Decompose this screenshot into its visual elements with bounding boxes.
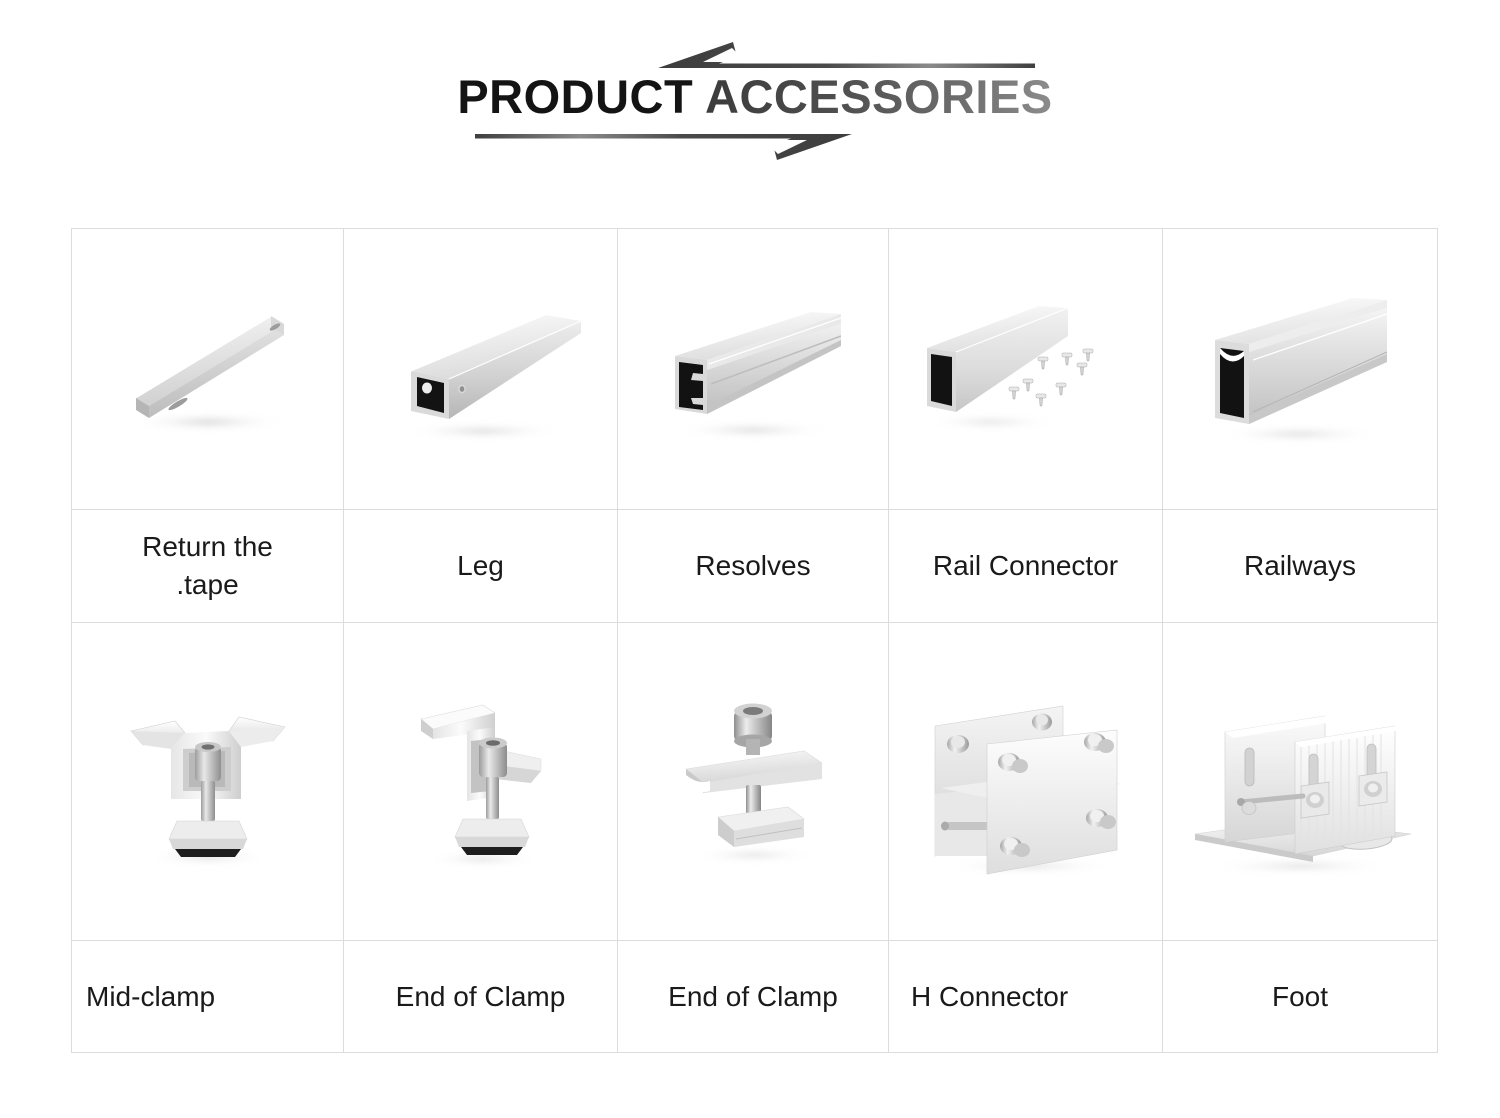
product-image-cell-foot — [1163, 623, 1437, 941]
product-label-cell-foot: Foot — [1163, 941, 1437, 1052]
product-image-cell-railways — [1163, 229, 1437, 510]
product-label-end-of-clamp-2: End of Clamp — [668, 978, 838, 1016]
product-image-cell-resolves — [618, 229, 889, 510]
square-tube-leg-image — [373, 289, 588, 449]
end-clamp-c-image — [656, 689, 851, 874]
page-title: PRODUCT ACCESSORIES — [455, 68, 1055, 126]
product-image-cell-rail-connector — [889, 229, 1163, 510]
product-image-cell-leg — [344, 229, 618, 510]
product-label-foot: Foot — [1272, 978, 1328, 1016]
page-title-part-2: ACCESSORIES — [693, 70, 1052, 123]
channel-rail-image — [651, 294, 856, 444]
h-connector-image — [911, 684, 1141, 879]
foot-bracket-image — [1183, 684, 1418, 879]
mid-clamp-image — [113, 687, 303, 877]
product-label-cell-h-connector: H Connector — [889, 941, 1163, 1052]
product-label-cell-rail-connector: Rail Connector — [889, 510, 1163, 623]
product-label-cell-mid-clamp: Mid-clamp — [72, 941, 344, 1052]
product-label-cell-return-the-tape: Return the.tape — [72, 510, 344, 623]
rail-connector-with-screws-image — [911, 294, 1141, 444]
header-inner: PRODUCT ACCESSORIES — [455, 30, 1055, 180]
product-label-cell-leg: Leg — [344, 510, 618, 623]
product-image-cell-end-of-clamp-1 — [344, 623, 618, 941]
product-label-cell-resolves: Resolves — [618, 510, 889, 623]
product-label-cell-end-of-clamp-2: End of Clamp — [618, 941, 889, 1052]
product-label-cell-end-of-clamp-1: End of Clamp — [344, 941, 618, 1052]
product-image-cell-end-of-clamp-2 — [618, 623, 889, 941]
triangle-flourish-bottom-icon — [475, 128, 895, 166]
product-label-cell-railways: Railways — [1163, 510, 1437, 623]
product-label-railways: Railways — [1244, 547, 1356, 585]
product-image-cell-mid-clamp — [72, 623, 344, 941]
product-label-rail-connector: Rail Connector — [933, 547, 1118, 585]
product-image-cell-return-the-tape — [72, 229, 344, 510]
product-image-cell-h-connector — [889, 623, 1163, 941]
product-label-h-connector: H Connector — [911, 978, 1068, 1016]
angle-bracket-rail-image — [103, 294, 313, 444]
page-header: PRODUCT ACCESSORIES — [0, 0, 1500, 200]
page-title-part-1: PRODUCT — [457, 70, 693, 123]
product-label-mid-clamp: Mid-clamp — [86, 978, 215, 1016]
accessories-grid: Return the.tape Leg Resolves Rail Connec… — [71, 228, 1438, 1053]
product-label-resolves: Resolves — [695, 547, 810, 585]
end-clamp-hook-image — [391, 687, 571, 877]
tall-rail-image — [1195, 292, 1405, 447]
product-label-leg: Leg — [457, 547, 504, 585]
product-label-end-of-clamp-1: End of Clamp — [396, 978, 566, 1016]
product-label-return-the-tape: Return the.tape — [142, 528, 273, 604]
